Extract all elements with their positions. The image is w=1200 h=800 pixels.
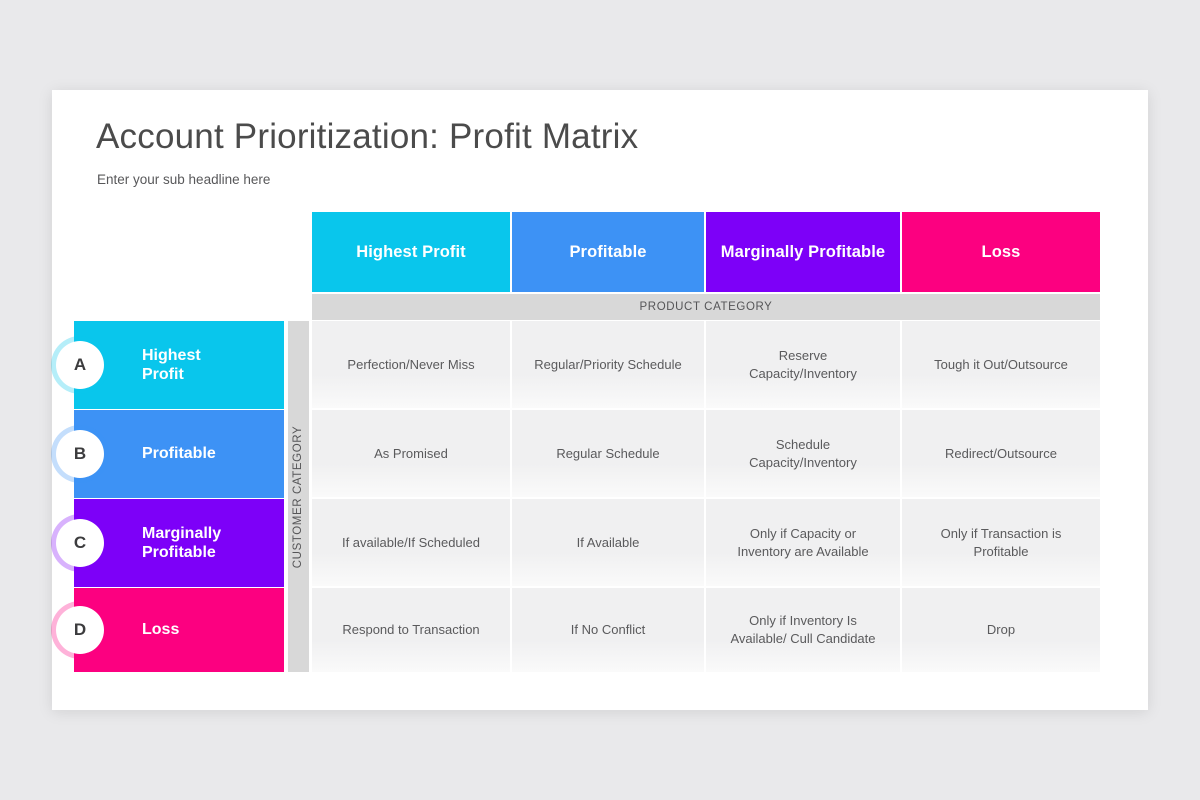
matrix-cell-text: ReserveCapacity/Inventory bbox=[749, 347, 857, 382]
matrix-cell-line2: Capacity/Inventory bbox=[749, 454, 857, 472]
column-header-loss[interactable]: Loss bbox=[902, 212, 1100, 292]
row-bar-label-line2: Profit bbox=[142, 365, 201, 384]
matrix-cell-text: ScheduleCapacity/Inventory bbox=[749, 436, 857, 471]
matrix-cell-line1: Only if Capacity or bbox=[737, 525, 868, 543]
row-bar-label-line2: Profitable bbox=[142, 543, 221, 562]
column-header-profitable[interactable]: Profitable bbox=[512, 212, 704, 292]
row-bar-loss[interactable]: Loss bbox=[74, 588, 284, 672]
matrix-cell-line2: Profitable bbox=[941, 543, 1062, 561]
matrix-cell[interactable]: ScheduleCapacity/Inventory bbox=[706, 410, 900, 497]
matrix-cell[interactable]: Drop bbox=[902, 588, 1100, 672]
row-bar-highest-profit[interactable]: Highest Profit bbox=[74, 321, 284, 409]
matrix-cell[interactable]: Only if Transaction isProfitable bbox=[902, 499, 1100, 586]
matrix-cell-line1: Perfection/Never Miss bbox=[347, 356, 474, 374]
column-header-label: Marginally Profitable bbox=[721, 243, 885, 262]
matrix-cell-line1: Only if Inventory Is bbox=[730, 612, 875, 630]
matrix-cell-text: Tough it Out/Outsource bbox=[934, 356, 1068, 374]
matrix-cell-text: Only if Capacity orInventory are Availab… bbox=[737, 525, 868, 560]
column-header-label: Profitable bbox=[569, 243, 646, 262]
matrix-cell-text: Only if Transaction isProfitable bbox=[941, 525, 1062, 560]
matrix-cell-text: As Promised bbox=[374, 445, 448, 463]
matrix-cell-text: If available/If Scheduled bbox=[342, 534, 480, 552]
matrix-cell-line1: Regular Schedule bbox=[556, 445, 659, 463]
matrix-cell-line2: Available/ Cull Candidate bbox=[730, 630, 875, 648]
matrix-cell[interactable]: Tough it Out/Outsource bbox=[902, 321, 1100, 408]
matrix-cell-line2: Inventory are Available bbox=[737, 543, 868, 561]
matrix-cell-line1: Redirect/Outsource bbox=[945, 445, 1057, 463]
matrix-cell[interactable]: Only if Capacity orInventory are Availab… bbox=[706, 499, 900, 586]
matrix-cell-line1: Only if Transaction is bbox=[941, 525, 1062, 543]
matrix-cell[interactable]: Regular Schedule bbox=[512, 410, 704, 497]
matrix-cell-line1: Tough it Out/Outsource bbox=[934, 356, 1068, 374]
matrix-cell-text: Perfection/Never Miss bbox=[347, 356, 474, 374]
matrix-cell-line1: As Promised bbox=[374, 445, 448, 463]
row-bar-label-line1: Marginally bbox=[142, 524, 221, 543]
row-badge-c[interactable]: C bbox=[56, 519, 104, 567]
product-category-label: PRODUCT CATEGORY bbox=[640, 301, 773, 313]
matrix-cell-line1: Regular/Priority Schedule bbox=[534, 356, 681, 374]
matrix-cell-text: Drop bbox=[987, 621, 1015, 639]
row-bar-label-line1: Profitable bbox=[142, 444, 216, 463]
matrix-cell[interactable]: As Promised bbox=[312, 410, 510, 497]
slide-canvas: Account Prioritization: Profit Matrix En… bbox=[52, 90, 1148, 710]
row-bar-label-line1: Loss bbox=[142, 620, 179, 639]
customer-category-label: CUSTOMER CATEGORY bbox=[293, 425, 305, 567]
matrix-cell-line2: Capacity/Inventory bbox=[749, 365, 857, 383]
customer-category-band: CUSTOMER CATEGORY bbox=[288, 321, 309, 672]
matrix-cell-line1: If Available bbox=[577, 534, 640, 552]
column-header-marginally-profitable[interactable]: Marginally Profitable bbox=[706, 212, 900, 292]
column-header-highest-profit[interactable]: Highest Profit bbox=[312, 212, 510, 292]
matrix-cell-line1: Drop bbox=[987, 621, 1015, 639]
row-bar-marginally-profitable[interactable]: Marginally Profitable bbox=[74, 499, 284, 587]
matrix-cell-text: If No Conflict bbox=[571, 621, 645, 639]
row-badge-b[interactable]: B bbox=[56, 430, 104, 478]
matrix-cell-line1: If No Conflict bbox=[571, 621, 645, 639]
matrix-cell-line1: Respond to Transaction bbox=[342, 621, 479, 639]
matrix-cell-text: If Available bbox=[577, 534, 640, 552]
row-bar-profitable[interactable]: Profitable bbox=[74, 410, 284, 498]
matrix-cell[interactable]: ReserveCapacity/Inventory bbox=[706, 321, 900, 408]
matrix-cell-line1: Schedule bbox=[749, 436, 857, 454]
matrix-cell[interactable]: If No Conflict bbox=[512, 588, 704, 672]
matrix-cell[interactable]: Redirect/Outsource bbox=[902, 410, 1100, 497]
matrix-cell[interactable]: If Available bbox=[512, 499, 704, 586]
column-header-label: Loss bbox=[982, 243, 1021, 262]
column-header-label: Highest Profit bbox=[356, 243, 466, 262]
matrix-cell-line1: Reserve bbox=[749, 347, 857, 365]
row-badge-d[interactable]: D bbox=[56, 606, 104, 654]
matrix-cell[interactable]: Perfection/Never Miss bbox=[312, 321, 510, 408]
matrix-cell-text: Respond to Transaction bbox=[342, 621, 479, 639]
matrix-cell-text: Only if Inventory IsAvailable/ Cull Cand… bbox=[730, 612, 875, 647]
page-title: Account Prioritization: Profit Matrix bbox=[96, 117, 638, 157]
product-category-band: PRODUCT CATEGORY bbox=[312, 294, 1100, 320]
row-bar-label-line1: Highest bbox=[142, 346, 201, 365]
matrix-cell-text: Redirect/Outsource bbox=[945, 445, 1057, 463]
matrix-cell-text: Regular/Priority Schedule bbox=[534, 356, 681, 374]
matrix-cell[interactable]: Respond to Transaction bbox=[312, 588, 510, 672]
page-subtitle: Enter your sub headline here bbox=[97, 172, 270, 187]
row-badge-a[interactable]: A bbox=[56, 341, 104, 389]
matrix-cell-line1: If available/If Scheduled bbox=[342, 534, 480, 552]
matrix-cell[interactable]: Regular/Priority Schedule bbox=[512, 321, 704, 408]
matrix-cell[interactable]: Only if Inventory IsAvailable/ Cull Cand… bbox=[706, 588, 900, 672]
matrix-cell[interactable]: If available/If Scheduled bbox=[312, 499, 510, 586]
matrix-cell-text: Regular Schedule bbox=[556, 445, 659, 463]
